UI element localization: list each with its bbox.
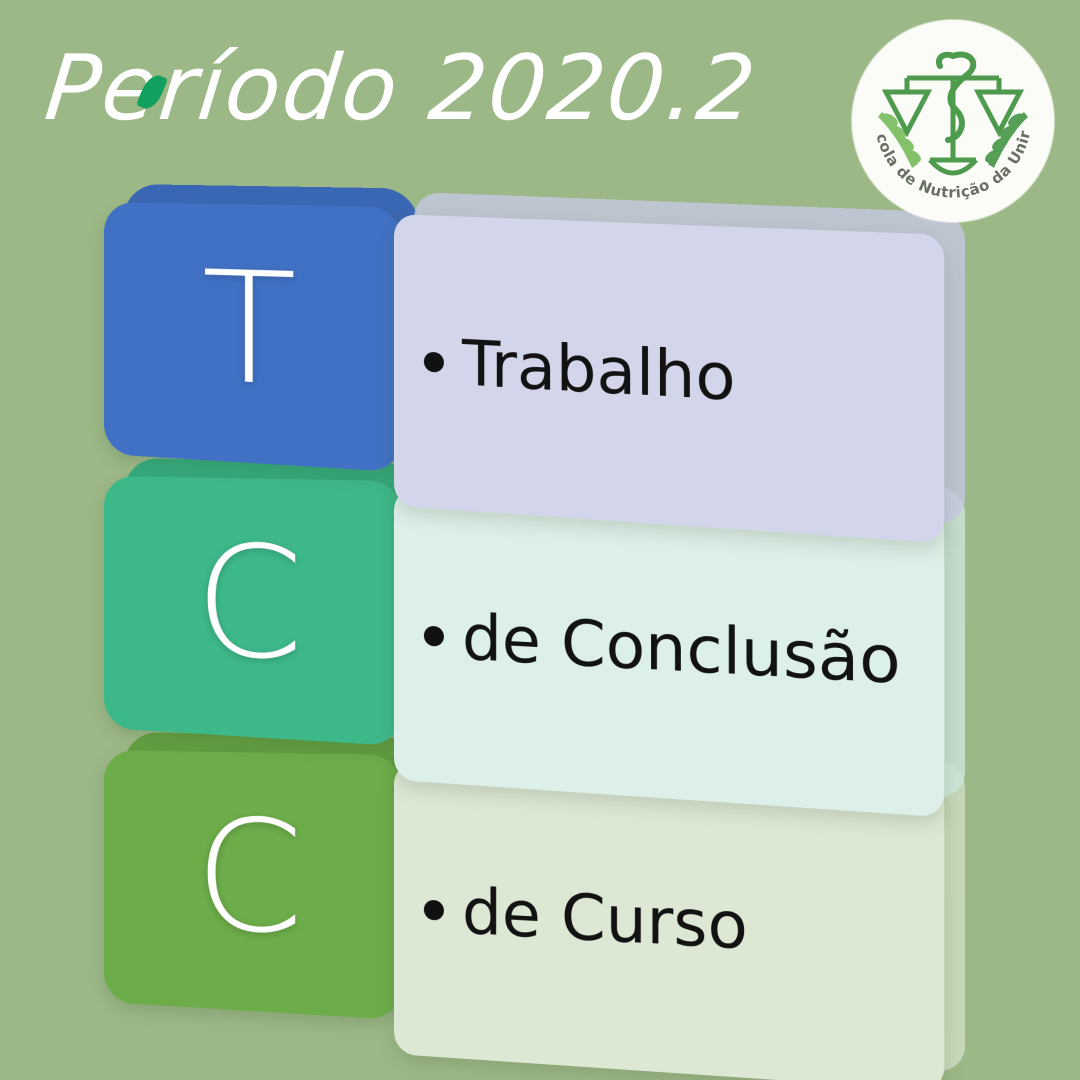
logo-curved-text: Escola de Nutrição da Unirio (852, 20, 1034, 202)
text-panel-trabalho[interactable]: Trabalho (394, 214, 944, 543)
panel-text-wrapper: Trabalho (394, 329, 736, 410)
bullet-icon (424, 352, 444, 373)
letter-tile-c-curso[interactable]: C (104, 750, 401, 1020)
panel-label: de Curso (462, 880, 748, 958)
bullet-icon (424, 626, 444, 647)
bullet-icon (424, 900, 444, 921)
panel-text-wrapper: de Curso (394, 877, 748, 959)
tile-letter: C (195, 525, 304, 683)
letter-tile-t[interactable]: T (104, 202, 401, 472)
panel-text-wrapper: de Conclusão (394, 603, 901, 693)
escola-de-nutricao-da-unirio-logo: Escola de Nutrição da Unirio (852, 20, 1054, 222)
page-title: Período 2020.2 (40, 34, 852, 144)
title-block: Período 2020.2 (46, 34, 846, 154)
tile-letter: C (195, 799, 304, 957)
poster-canvas: Período 2020.2 (0, 0, 1080, 1080)
letter-tile-c-conclusao[interactable]: C (104, 476, 401, 746)
tile-letter: T (202, 251, 297, 408)
acronym-row-t: T Trabalho (0, 178, 1080, 478)
panel-label: de Conclusão (462, 606, 901, 693)
rod-of-asclepius-icon (939, 55, 973, 140)
panel-label: Trabalho (462, 332, 736, 410)
